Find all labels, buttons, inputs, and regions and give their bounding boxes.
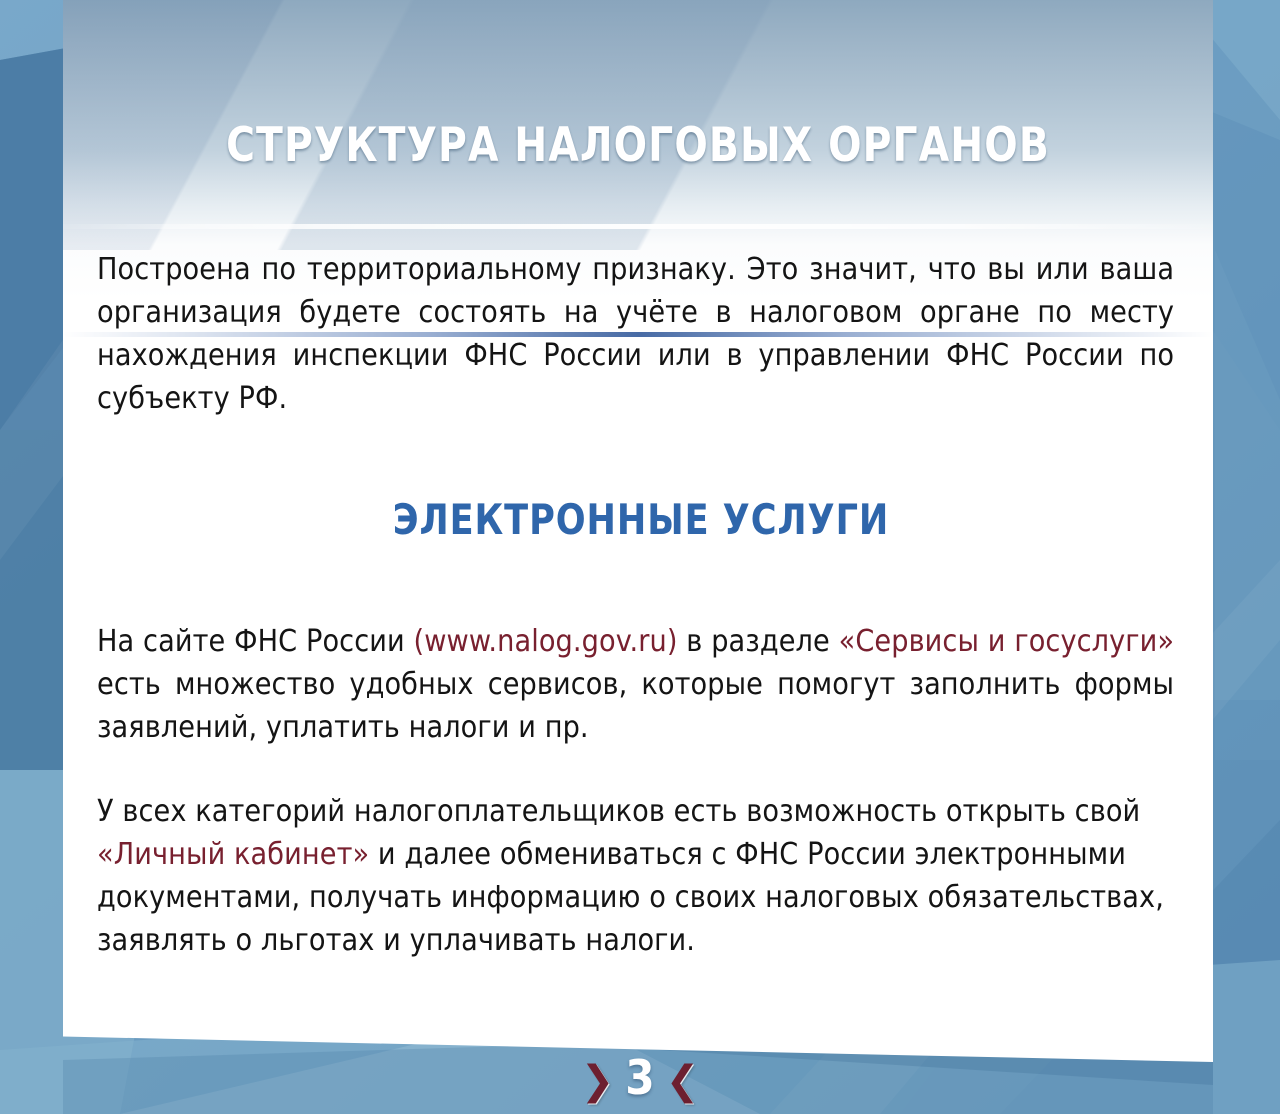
personal-cabinet-name: «Личный кабинет» xyxy=(97,837,369,872)
services-p1-part2: в разделе xyxy=(678,624,839,659)
services-paragraph-2: У всех категорий налогоплательщиков есть… xyxy=(97,790,1174,962)
services-p1-part3: есть множество удобных сервисов, которые… xyxy=(97,667,1174,745)
services-block: На сайте ФНС России (www.nalog.gov.ru) в… xyxy=(97,620,1185,962)
title-divider xyxy=(63,224,1213,229)
content-card: СТРУКТУРА НАЛОГОВЫХ ОРГАНОВ Построена по… xyxy=(63,0,1213,1062)
section-divider xyxy=(63,332,1213,337)
page-title: СТРУКТУРА НАЛОГОВЫХ ОРГАНОВ xyxy=(103,118,1173,173)
page-number: 3 xyxy=(625,1055,654,1102)
nalog-url-link[interactable]: (www.nalog.gov.ru) xyxy=(414,624,678,659)
services-section-name: «Сервисы и госуслуги» xyxy=(839,624,1175,659)
slide-canvas: СТРУКТУРА НАЛОГОВЫХ ОРГАНОВ Построена по… xyxy=(0,0,1280,1114)
page-footer: ❯ 3 ❮ xyxy=(0,1057,1280,1104)
services-p1-part1: На сайте ФНС России xyxy=(97,624,414,659)
title-band: СТРУКТУРА НАЛОГОВЫХ ОРГАНОВ xyxy=(63,0,1213,173)
services-paragraph-1: На сайте ФНС России (www.nalog.gov.ru) в… xyxy=(97,620,1174,749)
section-title: ЭЛЕКТРОННЫЕ УСЛУГИ xyxy=(135,495,1147,544)
chevron-right-icon: ❯ xyxy=(581,1061,615,1101)
chevron-left-icon: ❮ xyxy=(666,1061,700,1101)
section-heading-block: ЭЛЕКТРОННЫЕ УСЛУГИ xyxy=(97,495,1185,544)
services-p2-part1: У всех категорий налогоплательщиков есть… xyxy=(97,794,1140,829)
